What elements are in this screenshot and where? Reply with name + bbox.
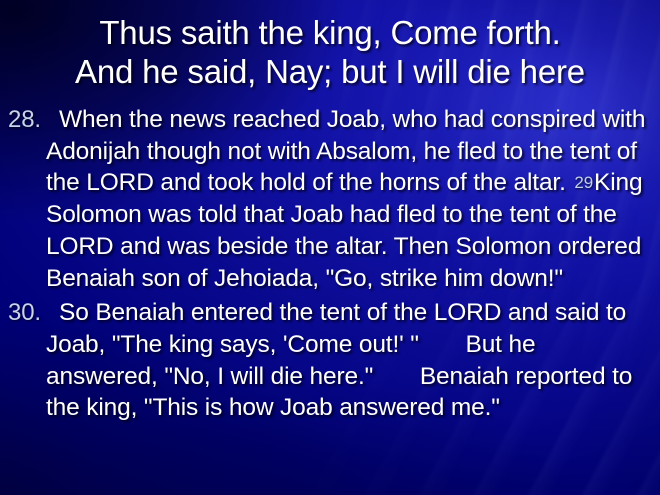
verse-text-28: When the news reached Joab, who had cons… [46, 104, 650, 294]
verse-block-30: 30. So Benaiah entered the tent of the L… [8, 297, 650, 424]
verse-text-30: So Benaiah entered the tent of the LORD … [46, 297, 650, 424]
slide-content: Thus saith the king, Come forth. And he … [0, 0, 660, 424]
slide-title-line-1: Thus saith the king, Come forth. [0, 13, 660, 52]
verse-number-28: 28. [8, 104, 41, 136]
slide-title-line-2: And he said, Nay; but I will die here [0, 52, 660, 91]
slide-body: 28. When the news reached Joab, who had … [0, 104, 660, 424]
verse-number-30: 30. [8, 297, 41, 329]
verse-block-28: 28. When the news reached Joab, who had … [8, 104, 650, 294]
inline-verse-number-29: 29 [572, 173, 594, 192]
verse-30-part-1: So Benaiah entered the tent of the LORD … [46, 299, 626, 358]
presentation-slide: Thus saith the king, Come forth. And he … [0, 0, 660, 495]
slide-title: Thus saith the king, Come forth. And he … [0, 0, 660, 91]
verse-28-part-1: When the news reached Joab, who had cons… [46, 106, 645, 196]
